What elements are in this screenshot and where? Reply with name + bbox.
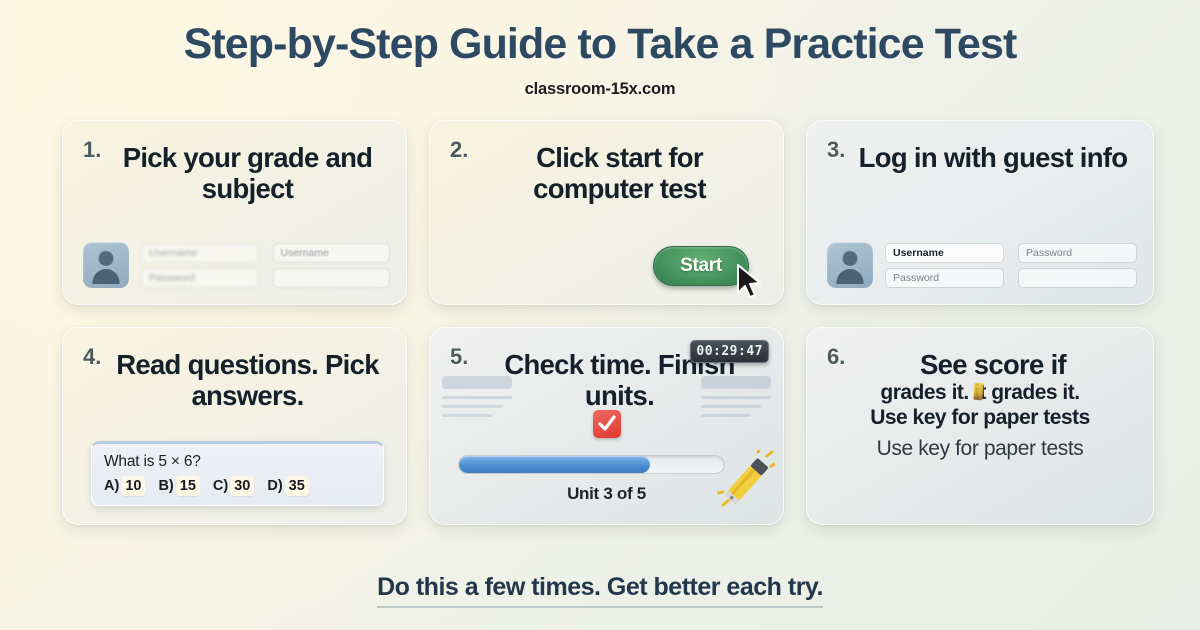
placeholder-line (442, 414, 492, 417)
step-number-5: 5. (450, 344, 468, 370)
placeholder-line (442, 405, 502, 408)
step-number-3: 3. (827, 137, 845, 163)
step-bold-line-6: Use key for paper tests (825, 406, 1135, 431)
quiz-option-d[interactable]: D)35 (267, 478, 308, 494)
step-sub-line-6: Use key for paper tests (825, 437, 1135, 461)
step-number-6: 6. (827, 344, 845, 370)
placeholder-line (701, 405, 761, 408)
login-form-mock-1: Username Username Password (83, 242, 390, 288)
page-footer: Do this a few times. Get better each try… (0, 573, 1200, 608)
placeholder-line (701, 414, 751, 417)
option-letter-b: B) (158, 478, 173, 494)
step-card-2[interactable]: 2. Click start for computer test Start (429, 120, 784, 305)
password-field[interactable]: Password (885, 268, 1004, 288)
step-garbled-line-6: grades it. it grades it. (825, 381, 1135, 406)
placeholder-block (701, 376, 771, 389)
step-card-1[interactable]: 1. Pick your grade and subject Username … (62, 120, 407, 305)
placeholder-line (701, 396, 771, 399)
step-card-3[interactable]: 3. Log in with guest info Username Passw… (806, 120, 1154, 305)
username-field-right[interactable]: Username (273, 243, 391, 263)
steps-grid: 1. Pick your grade and subject Username … (62, 120, 1140, 525)
option-letter-d: D) (267, 478, 282, 494)
username-field[interactable]: Username (885, 243, 1004, 263)
quiz-options: A)10 B)15 C)30 D)35 (104, 478, 371, 494)
step-card-5[interactable]: 5. 00:29:47 Check time. Finish units. Un… (429, 327, 784, 525)
placeholder-line (442, 396, 512, 399)
password-field-right[interactable]: Password (1018, 243, 1137, 263)
quiz-option-a[interactable]: A)10 (104, 478, 145, 494)
quiz-option-c[interactable]: C)30 (213, 478, 254, 494)
start-button-area: Start (653, 246, 749, 286)
garbled-text: grades it. it grades it. (880, 381, 1079, 406)
page-title: Step-by-Step Guide to Take a Practice Te… (0, 20, 1200, 69)
placeholder-block (442, 376, 512, 389)
step-title-3: Log in with guest info (825, 135, 1135, 174)
step-card-4[interactable]: 4. Read questions. Pick answers. What is… (62, 327, 407, 525)
checkmark-icon (593, 410, 621, 438)
quiz-option-b[interactable]: B)15 (158, 478, 199, 494)
footer-text: Do this a few times. Get better each try… (377, 573, 823, 608)
placeholder-lines-left (442, 376, 512, 423)
option-letter-c: C) (213, 478, 228, 494)
step-title-4: Read questions. Pick answers. (81, 342, 388, 412)
username-field[interactable]: Username (141, 243, 259, 263)
step-title-1: Pick your grade and subject (81, 135, 388, 205)
step-number-2: 2. (450, 137, 468, 163)
mouse-cursor-icon (735, 264, 765, 300)
step-title-2: Click start for computer test (448, 135, 765, 205)
form-fields-3: Username Password Password (885, 243, 1137, 288)
avatar-icon (827, 242, 873, 288)
form-fields-1: Username Username Password (141, 243, 390, 288)
option-value-c: 30 (230, 476, 254, 496)
pencil-icon (717, 450, 775, 512)
option-value-d: 35 (285, 476, 309, 496)
step-card-6[interactable]: 6. See score if grades it. it grades it.… (806, 327, 1154, 525)
extra-field-right[interactable] (1018, 268, 1137, 288)
option-value-a: 10 (121, 476, 145, 496)
placeholder-lines-right (701, 376, 771, 423)
option-value-b: 15 (176, 476, 200, 496)
timer-value: 00:29:47 (696, 344, 763, 359)
option-letter-a: A) (104, 478, 119, 494)
quiz-panel: What is 5 × 6? A)10 B)15 C)30 D)35 (91, 441, 384, 506)
timer-display: 00:29:47 (690, 340, 769, 363)
site-attribution: classroom-15x.com (0, 80, 1200, 99)
quiz-question: What is 5 × 6? (104, 453, 371, 471)
progress-bar[interactable] (458, 455, 725, 474)
step-title-6: See score if (825, 342, 1135, 381)
avatar-icon (83, 242, 129, 288)
password-field[interactable]: Password (141, 268, 259, 288)
page-header: Step-by-Step Guide to Take a Practice Te… (0, 0, 1200, 99)
password-field-right[interactable] (273, 268, 391, 288)
progress-bar-fill (459, 456, 650, 473)
step-number-4: 4. (83, 344, 101, 370)
login-form-mock-3: Username Password Password (827, 242, 1137, 288)
step-number-1: 1. (83, 137, 101, 163)
